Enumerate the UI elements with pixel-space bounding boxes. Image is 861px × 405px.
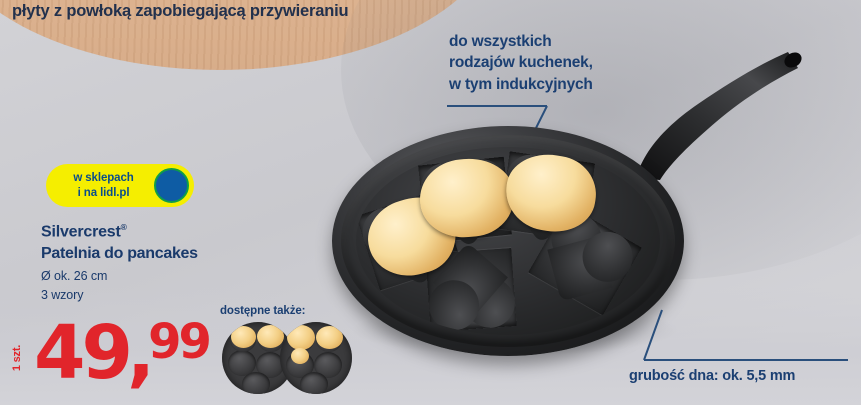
alternate-thumbnail-2[interactable] — [280, 322, 352, 394]
product-spec-patterns: 3 wzory — [41, 288, 83, 302]
headline-text: płyty z powłoką zapobiegającą przywieran… — [12, 2, 348, 21]
badge-text: w sklepach i na lidl.pl — [46, 171, 154, 199]
price-unit-label: 1 szt. — [11, 338, 23, 378]
callout-top-line-2: rodzajów kuchenek, — [449, 52, 593, 73]
registered-mark-icon: ® — [121, 222, 127, 232]
badge-line-2: i na lidl.pl — [53, 186, 154, 200]
product-brand: Silvercrest® — [41, 222, 127, 241]
leader-line-bottom — [600, 302, 850, 370]
price-integer: 49 — [34, 316, 129, 390]
advertisement-canvas: płyty z powłoką zapobiegającą przywieran… — [0, 0, 861, 405]
callout-bottom: grubość dna: ok. 5,5 mm — [629, 368, 795, 384]
availability-badge: w sklepach i na lidl.pl — [46, 164, 194, 207]
product-spec-diameter: Ø ok. 26 cm — [41, 269, 107, 283]
product-brand-name: Silvercrest — [41, 223, 121, 240]
callout-top-line-1: do wszystkich — [449, 31, 593, 52]
price-decimals: 99 — [148, 318, 209, 366]
callout-top-line-3: w tym indukcyjnych — [449, 74, 593, 95]
alternates-label: dostępne także: — [220, 305, 305, 317]
product-name: Patelnia do pancakes — [41, 245, 198, 263]
badge-line-1: w sklepach — [53, 171, 154, 185]
badge-dot-icon — [154, 168, 189, 203]
price-block: 49 , 99 — [34, 316, 209, 390]
callout-top: do wszystkich rodzajów kuchenek, w tym i… — [449, 31, 593, 95]
